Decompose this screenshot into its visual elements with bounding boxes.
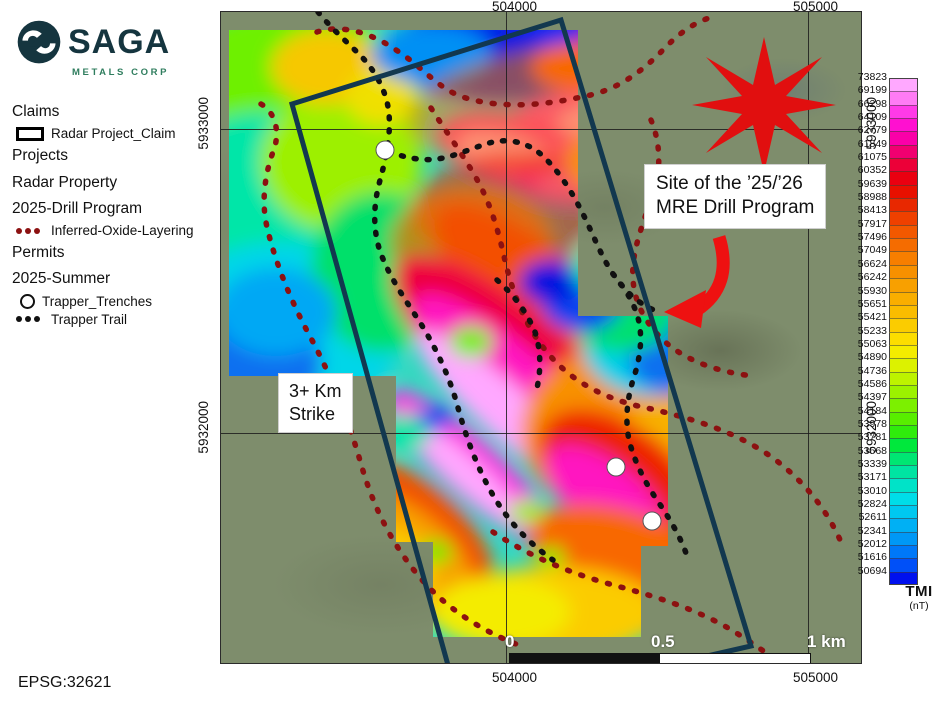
- callout-strike-line2: Strike: [289, 403, 342, 426]
- ramp-swatch: [889, 318, 918, 331]
- ramp-row: 55930: [889, 292, 918, 305]
- ramp-row: 73823: [889, 78, 918, 91]
- ramp-value-label: 69199: [858, 84, 887, 96]
- map-canvas[interactable]: 0 0.5 1 km Site of the ’25/’26 MRE Drill…: [220, 11, 862, 664]
- ramp-row: 60352: [889, 171, 918, 184]
- ramp-value-label: 53339: [858, 458, 887, 470]
- ramp-value-label: 55930: [858, 285, 887, 297]
- ramp-swatch: [889, 505, 918, 518]
- ramp-value-label: 52611: [859, 511, 887, 523]
- ramp-value-label: 52012: [858, 538, 887, 550]
- ramp-swatch: [889, 198, 918, 211]
- ramp-value-label: 54397: [858, 391, 887, 403]
- scalebar-label-1km: 1 km: [807, 632, 846, 652]
- ramp-row: 57049: [889, 251, 918, 264]
- ramp-row: 53978: [889, 425, 918, 438]
- ramp-row: 53781: [889, 438, 918, 451]
- ramp-value-label: 57496: [858, 231, 887, 243]
- ramp-row: 53339: [889, 465, 918, 478]
- ramp-value-label: 66298: [858, 98, 887, 110]
- map-legend: Claims Radar Project_Claim Projects Rada…: [10, 100, 210, 330]
- legend-item-trapper-trenches[interactable]: Trapper_Trenches: [16, 294, 210, 309]
- ramp-value-label: 53568: [858, 445, 887, 457]
- ramp-swatch: [889, 518, 918, 531]
- ramp-swatch: [889, 158, 918, 171]
- ramp-row: 54736: [889, 372, 918, 385]
- ramp-swatch: [889, 225, 918, 238]
- ramp-row: 55063: [889, 345, 918, 358]
- tmi-title-text: TMI: [889, 583, 949, 600]
- legend-heading-permits: Permits: [12, 241, 210, 264]
- ramp-value-label: 54184: [858, 405, 887, 417]
- ramp-row: 55421: [889, 318, 918, 331]
- scalebar-label-0: 0: [505, 632, 514, 652]
- ramp-row: 58413: [889, 211, 918, 224]
- ramp-swatch: [889, 292, 918, 305]
- ramp-row: 51616: [889, 558, 918, 571]
- legend-item-radar-project-claim[interactable]: Radar Project_Claim: [16, 126, 210, 141]
- ramp-row: 56242: [889, 278, 918, 291]
- ramp-row: 56624: [889, 265, 918, 278]
- ramp-swatch: [889, 265, 918, 278]
- callout-mre-line1: Site of the ’25/’26: [656, 172, 814, 196]
- ramp-value-label: 61075: [858, 151, 887, 163]
- ramp-value-label: 56242: [858, 271, 887, 283]
- ramp-value-label: 55651: [858, 298, 887, 310]
- ramp-swatch: [889, 532, 918, 545]
- legend-heading-2025-summer: 2025-Summer: [12, 267, 210, 290]
- ramp-value-label: 51616: [858, 551, 887, 563]
- ramp-swatch: [889, 305, 918, 318]
- legend-item-trapper-trail[interactable]: Trapper Trail: [16, 312, 210, 327]
- ramp-swatch: [889, 211, 918, 224]
- ramp-row: 52611: [889, 518, 918, 531]
- ramp-value-label: 54890: [858, 351, 887, 363]
- tmi-ramp-title: TMI (nT): [889, 583, 949, 612]
- ramp-row: 64109: [889, 118, 918, 131]
- legend-heading-projects: Projects: [12, 144, 210, 167]
- ramp-swatch: [889, 78, 918, 91]
- ramp-swatch: [889, 398, 918, 411]
- ramp-value-label: 54586: [858, 378, 887, 390]
- ramp-swatch: [889, 372, 918, 385]
- brand-logo: SAGA METALS CORP: [17, 20, 170, 78]
- ramp-row: 52824: [889, 505, 918, 518]
- ramp-row: 54397: [889, 398, 918, 411]
- ramp-value-label: 52341: [858, 525, 887, 537]
- brand-tagline: METALS CORP: [72, 67, 170, 78]
- ramp-value-label: 62779: [858, 124, 887, 136]
- axis-label-bottom-505000: 505000: [793, 670, 838, 685]
- ramp-row: 53010: [889, 492, 918, 505]
- axis-label-top-504000: 504000: [492, 0, 537, 14]
- ramp-swatch: [889, 465, 918, 478]
- ramp-swatch: [889, 478, 918, 491]
- ramp-swatch: [889, 278, 918, 291]
- ramp-row: 52012: [889, 545, 918, 558]
- ramp-value-label: 56624: [858, 258, 887, 270]
- legend-label-radar-project-claim: Radar Project_Claim: [51, 126, 176, 141]
- ramp-row: 61849: [889, 145, 918, 158]
- ramp-swatch: [889, 105, 918, 118]
- legend-heading-radar-property: Radar Property: [12, 171, 210, 194]
- ramp-value-label: 58988: [858, 191, 887, 203]
- ramp-value-label: 59639: [858, 178, 887, 190]
- ramp-value-label: 60352: [858, 164, 887, 176]
- epsg-label: EPSG:32621: [18, 674, 111, 692]
- axis-label-bottom-504000: 504000: [492, 670, 537, 685]
- ramp-swatch: [889, 131, 918, 144]
- ramp-row: 55651: [889, 305, 918, 318]
- ramp-swatch: [889, 238, 918, 251]
- ramp-value-label: 53171: [858, 471, 887, 483]
- ramp-row: 54586: [889, 385, 918, 398]
- callout-mre-drill-program: Site of the ’25/’26 MRE Drill Program: [644, 164, 826, 229]
- ramp-swatch: [889, 438, 918, 451]
- ramp-swatch: [889, 358, 918, 371]
- ramp-swatch: [889, 91, 918, 104]
- claim-rectangle-icon: [16, 127, 44, 141]
- ramp-value-label: 58413: [858, 204, 887, 216]
- callout-strike-length: 3+ Km Strike: [278, 373, 353, 433]
- legend-label-trapper-trenches: Trapper_Trenches: [42, 294, 152, 309]
- ramp-value-label: 61849: [858, 138, 887, 150]
- legend-label-trapper-trail: Trapper Trail: [51, 312, 127, 327]
- legend-heading-drill-program: 2025-Drill Program: [12, 197, 210, 220]
- ramp-swatch: [889, 185, 918, 198]
- ramp-row: 55233: [889, 332, 918, 345]
- ramp-swatch: [889, 332, 918, 345]
- ramp-value-label: 55063: [858, 338, 887, 350]
- dotted-line-icon: [16, 227, 44, 235]
- ramp-swatch: [889, 452, 918, 465]
- axis-label-top-505000: 505000: [793, 0, 838, 14]
- tmi-color-ramp: 7382369199662986410962779618496107560352…: [889, 78, 918, 585]
- legend-item-inferred-oxide-layering[interactable]: Inferred-Oxide-Layering: [16, 223, 210, 238]
- callout-strike-line1: 3+ Km: [289, 380, 342, 403]
- ramp-value-label: 57049: [858, 244, 887, 256]
- ramp-swatch: [889, 412, 918, 425]
- ramp-value-label: 53781: [858, 431, 887, 443]
- legend-heading-claims: Claims: [12, 100, 210, 123]
- ramp-value-label: 64109: [858, 111, 887, 123]
- ramp-row: 66298: [889, 105, 918, 118]
- ramp-value-label: 54736: [858, 365, 887, 377]
- ramp-row: 54890: [889, 358, 918, 371]
- ramp-value-label: 50694: [858, 565, 887, 577]
- ramp-value-label: 53978: [858, 418, 887, 430]
- saga-circle-mountain-logo-icon: [17, 20, 61, 64]
- ramp-swatch: [889, 558, 918, 571]
- ramp-swatch: [889, 171, 918, 184]
- ramp-value-label: 57917: [858, 218, 887, 230]
- ramp-swatch: [889, 492, 918, 505]
- ramp-swatch: [889, 118, 918, 131]
- coordinate-graticule: [221, 12, 861, 663]
- ramp-row: 57917: [889, 225, 918, 238]
- axis-label-left-5933000: 5933000: [196, 97, 211, 150]
- ramp-swatch: [889, 345, 918, 358]
- ramp-swatch: [889, 425, 918, 438]
- legend-label-inferred-oxide-layering: Inferred-Oxide-Layering: [51, 223, 194, 238]
- ramp-value-label: 55233: [858, 325, 887, 337]
- ramp-row: 52341: [889, 532, 918, 545]
- ramp-row: 54184: [889, 412, 918, 425]
- ramp-value-label: 52824: [858, 498, 887, 510]
- dotted-line-icon: [16, 315, 44, 323]
- ramp-row: 61075: [889, 158, 918, 171]
- ramp-swatch: [889, 385, 918, 398]
- axis-label-left-5932000: 5932000: [196, 401, 211, 454]
- ramp-row: 53171: [889, 478, 918, 491]
- ramp-value-label: 55421: [858, 311, 887, 323]
- scalebar-label-half: 0.5: [651, 632, 675, 652]
- ramp-swatch: [889, 145, 918, 158]
- circle-outline-icon: [20, 294, 35, 309]
- map-scalebar: [509, 653, 811, 664]
- ramp-row: 53568: [889, 452, 918, 465]
- ramp-value-label: 73823: [858, 71, 887, 83]
- tmi-units-text: (nT): [889, 600, 949, 612]
- ramp-row: 58988: [889, 198, 918, 211]
- ramp-value-label: 53010: [858, 485, 887, 497]
- ramp-row: 59639: [889, 185, 918, 198]
- ramp-row: 69199: [889, 91, 918, 104]
- ramp-row: 57496: [889, 238, 918, 251]
- ramp-swatch: [889, 545, 918, 558]
- callout-mre-line2: MRE Drill Program: [656, 196, 814, 220]
- brand-name: SAGA: [68, 25, 170, 59]
- ramp-row: 62779: [889, 131, 918, 144]
- ramp-swatch: [889, 251, 918, 264]
